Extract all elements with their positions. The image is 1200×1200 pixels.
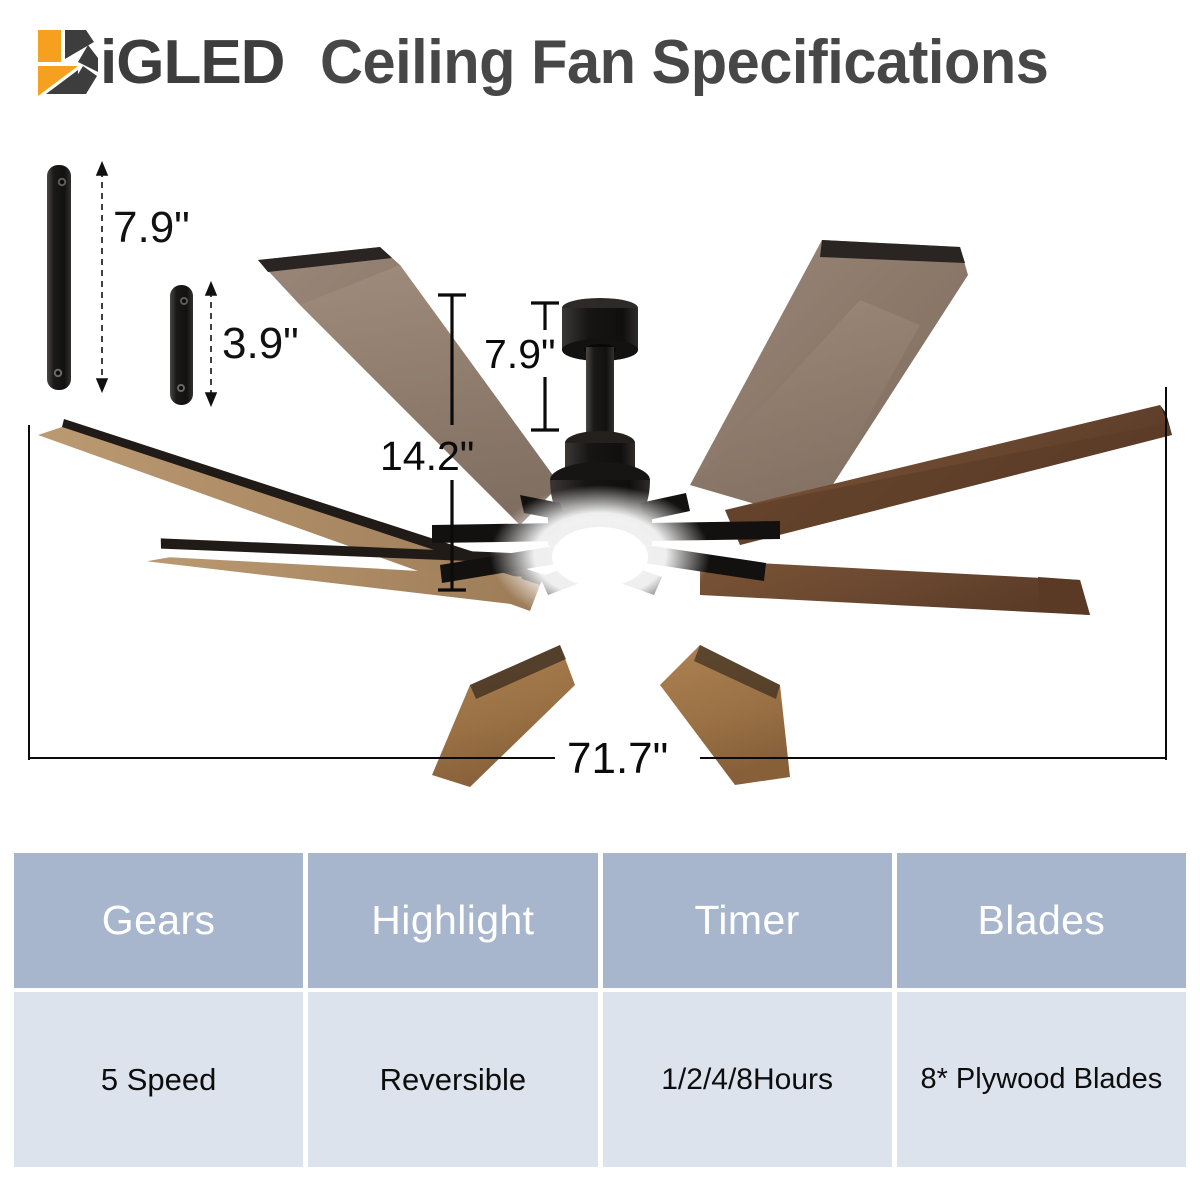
long-downrod-part: [47, 165, 71, 390]
spec-header-blades: Blades: [897, 853, 1186, 988]
fan-led-light: [490, 485, 710, 625]
spec-value-timer: 1/2/4/8Hours: [603, 992, 892, 1167]
spec-value-highlight: Reversible: [308, 992, 597, 1167]
ceiling-fan-spec-table: Gears Highlight Timer Blades 5 Speed Rev…: [14, 853, 1186, 1167]
spec-header-timer: Timer: [603, 853, 892, 988]
spec-value-gears: 5 Speed: [14, 992, 303, 1167]
page-header: iGLED Ceiling Fan Specifications: [0, 0, 1200, 125]
ceiling-fan-dimension-diagram: 7.9" 3.9": [0, 125, 1200, 840]
page-title: Ceiling Fan Specifications: [320, 32, 1048, 94]
digled-shutter-logo-icon: [28, 26, 102, 100]
short-downrod-part: [170, 285, 193, 405]
downrod-short-dimension: [206, 283, 216, 405]
fan-downrod: [586, 347, 614, 442]
fan-blade-upper-left: [258, 247, 560, 525]
fan-drop-height-label: 7.9": [484, 331, 556, 377]
spec-table-header-row: Gears Highlight Timer Blades: [14, 853, 1186, 988]
downrod-long-dimension-label: 7.9": [113, 203, 190, 252]
downrod-short-dimension-label: 3.9": [222, 319, 299, 368]
fan-blade-bottom-left: [432, 645, 575, 787]
downrod-long-dimension: [97, 163, 107, 391]
spec-table-value-row: 5 Speed Reversible 1/2/4/8Hours 8* Plywo…: [14, 992, 1186, 1167]
fan-blade-span-label: 71.7": [567, 734, 668, 783]
spec-header-highlight: Highlight: [308, 853, 597, 988]
spec-value-blades: 8* Plywood Blades: [897, 992, 1186, 1167]
logo-wordmark: iGLED: [100, 32, 284, 94]
fan-blade-bottom-right: [660, 645, 790, 785]
spec-header-gears: Gears: [14, 853, 303, 988]
ceiling-fan-spec-sheet: iGLED Ceiling Fan Specifications: [0, 0, 1200, 1200]
fan-total-height-label: 14.2": [380, 433, 474, 479]
